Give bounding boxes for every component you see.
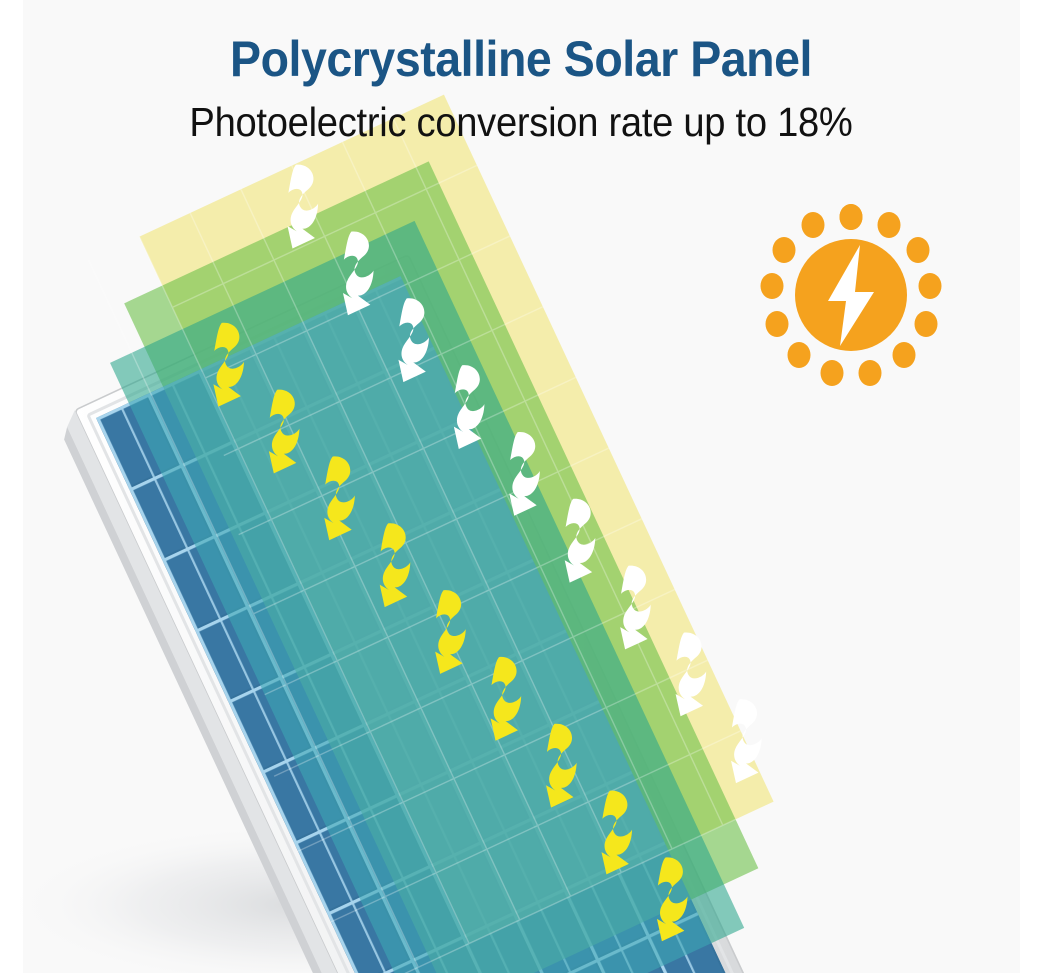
sun-energy-icon xyxy=(756,200,946,392)
headings-block: Polycrystalline Solar Panel Photoelectri… xyxy=(0,0,1042,143)
illustration-canvas xyxy=(0,0,1042,973)
screenshot-root: Polycrystalline Solar Panel Photoelectri… xyxy=(0,0,1042,973)
page-subtitle: Photoelectric conversion rate up to 18% xyxy=(36,84,1005,143)
page-title: Polycrystalline Solar Panel xyxy=(36,0,1005,84)
